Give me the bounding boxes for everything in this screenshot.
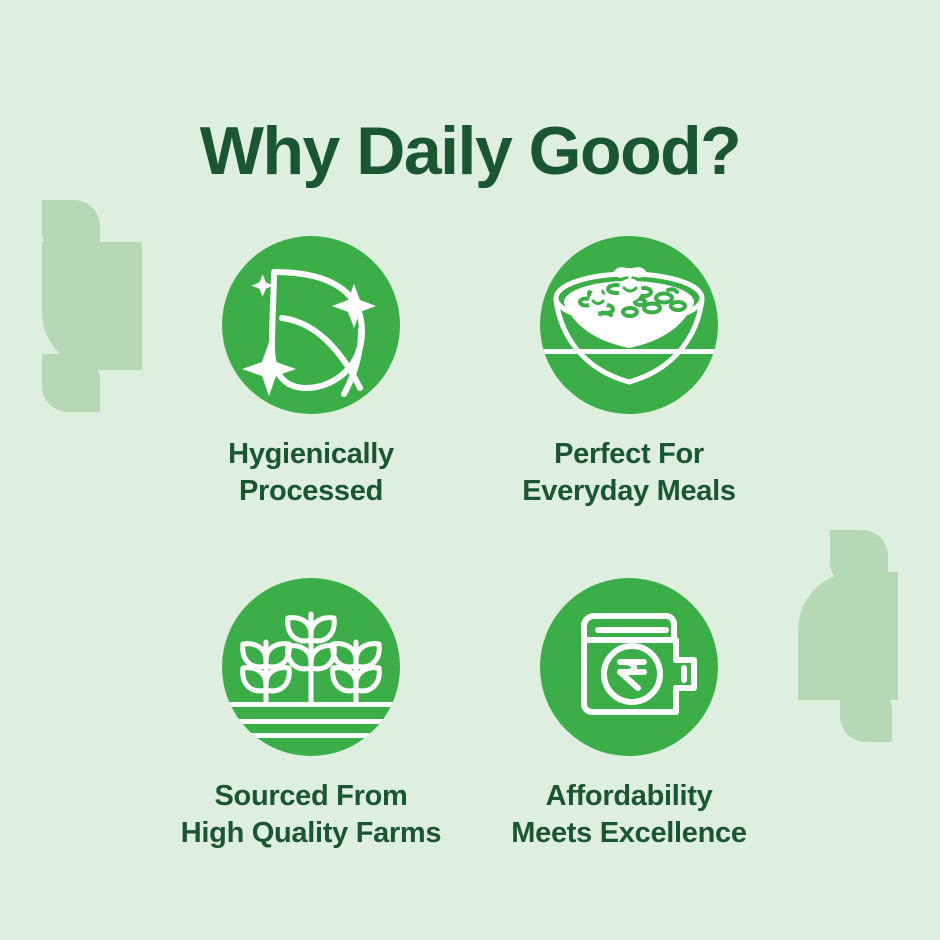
feature-hygienically-processed[interactable]: Hygienically Processed — [152, 236, 470, 510]
soup-bowl-icon — [540, 236, 718, 414]
feature-sourced-from-high-quality-farms[interactable]: Sourced From High Quality Farms — [152, 578, 470, 852]
row-spacer — [0, 510, 940, 578]
poster-canvas: Why Daily Good? — [0, 0, 940, 940]
rupee-wallet-icon — [540, 578, 718, 756]
feature-icon-circle — [540, 578, 718, 756]
crop-field-icon — [222, 578, 400, 756]
feature-label: Affordability Meets Excellence — [511, 778, 746, 852]
feature-icon-circle — [222, 236, 400, 414]
feature-affordability-meets-excellence[interactable]: Affordability Meets Excellence — [470, 578, 788, 852]
page-title: Why Daily Good? — [0, 114, 940, 189]
feature-label: Perfect For Everyday Meals — [522, 436, 735, 510]
feature-icon-circle — [540, 236, 718, 414]
feature-label: Sourced From High Quality Farms — [181, 778, 442, 852]
sparkling-leaf-icon — [222, 236, 400, 414]
feature-row-bottom: Sourced From High Quality Farms — [0, 578, 940, 852]
feature-icon-circle — [222, 578, 400, 756]
feature-row-top: Hygienically Processed — [0, 236, 940, 510]
feature-label: Hygienically Processed — [228, 436, 394, 510]
feature-perfect-for-everyday-meals[interactable]: Perfect For Everyday Meals — [470, 236, 788, 510]
feature-grid: Hygienically Processed — [0, 236, 940, 852]
